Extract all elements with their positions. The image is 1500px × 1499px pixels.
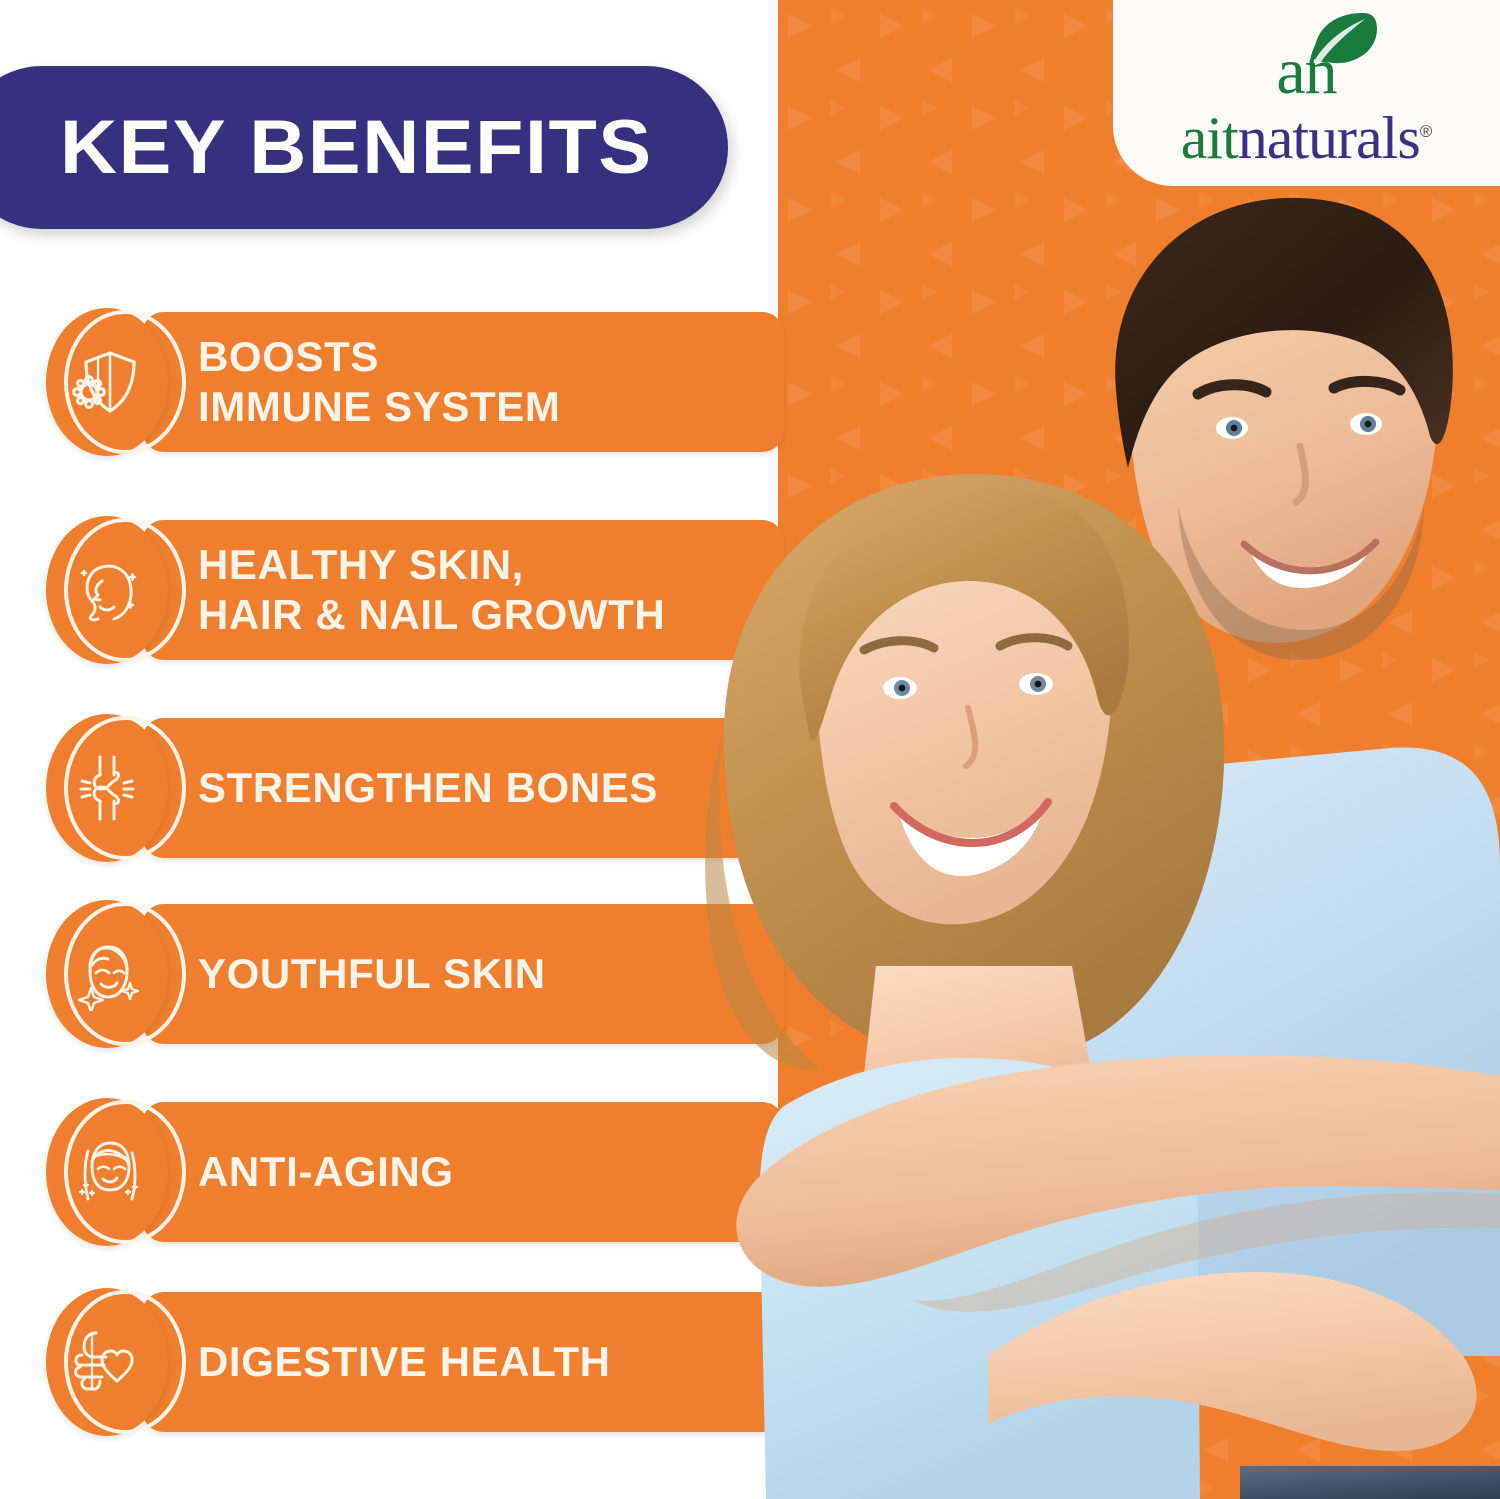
benefit-label: HEALTHY SKIN, HAIR & NAIL GROWTH (198, 516, 758, 664)
benefit-label: ANTI-AGING (198, 1098, 758, 1246)
logo-wordmark: aitnaturals® (1142, 101, 1472, 169)
key-benefits-banner: KEY BENEFITS (0, 66, 728, 229)
logo-ait-text: ait (1181, 105, 1238, 171)
list-item[interactable]: DIGESTIVE HEALTH (46, 1288, 746, 1436)
benefit-label: DIGESTIVE HEALTH (198, 1288, 758, 1436)
benefit-line: YOUTHFUL SKIN (198, 949, 758, 999)
benefit-icon-badge (46, 1288, 168, 1436)
list-item[interactable]: ANTI-AGING (46, 1098, 746, 1246)
brand-logo-plate: an aitnaturals® (1113, 0, 1500, 186)
benefit-line: DIGESTIVE HEALTH (198, 1337, 758, 1387)
infographic-canvas: an aitnaturals® KEY BENEFITS (0, 0, 1500, 1499)
benefit-line: HEALTHY SKIN, (198, 540, 758, 590)
list-item[interactable]: STRENGTHEN BONES (46, 714, 746, 862)
couple-photo (700, 176, 1500, 1499)
benefit-label: YOUTHFUL SKIN (198, 900, 758, 1048)
benefit-label: STRENGTHEN BONES (198, 714, 758, 862)
benefit-label: BOOSTS IMMUNE SYSTEM (198, 308, 758, 456)
logo-naturals-text: naturals (1238, 105, 1420, 171)
benefit-icon-badge (46, 900, 168, 1048)
benefit-icon-badge (46, 516, 168, 664)
list-item[interactable]: BOOSTS IMMUNE SYSTEM (46, 308, 746, 456)
bone-joint-icon (46, 714, 168, 862)
page-title: KEY BENEFITS (60, 110, 653, 186)
benefit-icon-badge (46, 308, 168, 456)
list-item[interactable]: YOUTHFUL SKIN (46, 900, 746, 1048)
benefit-line: ANTI-AGING (198, 1147, 758, 1197)
youthful-face-icon (46, 900, 168, 1048)
anti-aging-face-icon (46, 1098, 168, 1246)
benefit-line: HAIR & NAIL GROWTH (198, 590, 758, 640)
benefit-line: IMMUNE SYSTEM (198, 382, 758, 432)
logo-an-text: an (1142, 39, 1472, 105)
intestine-heart-icon (46, 1288, 168, 1436)
registered-mark: ® (1420, 122, 1433, 141)
shield-virus-icon (46, 308, 168, 456)
list-item[interactable]: HEALTHY SKIN, HAIR & NAIL GROWTH (46, 516, 746, 664)
hair-skin-profile-icon (46, 516, 168, 664)
benefit-icon-badge (46, 1098, 168, 1246)
benefit-line: BOOSTS (198, 332, 758, 382)
benefit-icon-badge (46, 714, 168, 862)
benefit-line: STRENGTHEN BONES (198, 763, 758, 813)
